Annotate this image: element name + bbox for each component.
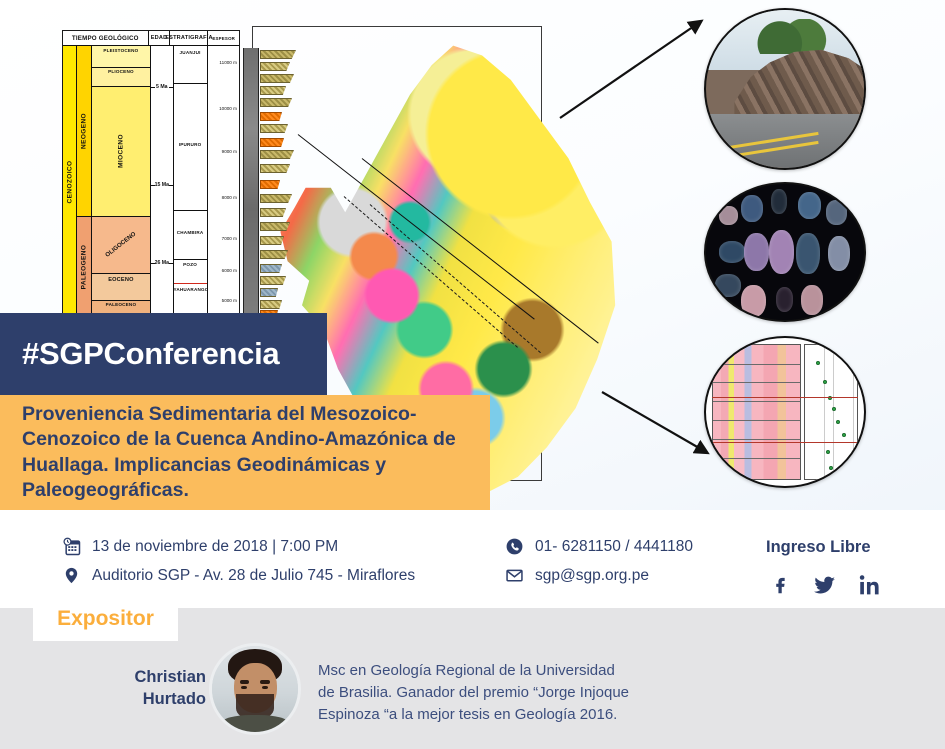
speaker-bio-line1: Msc en Geología Regional de la Universid… [318,660,668,682]
strat-series-label-oligoceno: OLIGOCENO [105,231,138,258]
strat-fm-label-ipururo: IPURURO [174,142,207,147]
strat-header-tiempo: TIEMPO GEOLÓGICO [63,31,149,45]
strat-fm-juanjui: JUANJUI [174,46,207,84]
strat-seg-mioceno: MIOCENO [92,87,150,217]
strat-thk-6000: 6000 m [222,268,237,273]
expositor-label-box: Expositor [33,597,178,641]
strat-age-15ma: 15 Ma [151,182,172,188]
strat-thk-7000: 7000 m [222,236,237,241]
speaker-avatar [212,646,298,732]
strat-seg-paleogeno: PALEOGENO [77,217,90,317]
strat-seg-oligoceno: OLIGOCENO [92,217,150,274]
contact-email-row[interactable]: sgp@sgp.org.pe [505,561,693,590]
conference-title: Proveniencia Sedimentaria del Mesozoico-… [0,402,490,503]
strat-thk-5000: 5000 m [222,298,237,303]
strat-fm-label-chambira: CHAMBIRA [174,230,207,235]
contact-strip: 13 de noviembre de 2018 | 7:00 PM Audito… [0,510,945,608]
strat-seg-plioceno: PLIOCENO [92,68,150,87]
strat-col-thickness: 11000 m 10000 m 9000 m 8000 m 7000 m 600… [208,46,239,317]
strat-era-label: CENOZOICO [66,160,73,203]
speaker-footer: Expositor Christian Hurtado Msc en Geolo… [0,608,945,749]
contact-email-text: sgp@sgp.org.pe [535,567,649,585]
strat-age-26ma: 26 Ma [151,260,172,266]
strat-fm-chambira: CHAMBIRA [174,211,207,260]
hashtag-text: #SGPConferencia [0,336,279,372]
speaker-bio-line3: Espinoza “a la mejor tesis en Geología 2… [318,704,668,726]
speaker-bio: Msc en Geología Regional de la Universid… [318,660,668,726]
calendar-clock-icon [62,537,92,557]
contact-column-middle: 01- 6281150 / 4441180 sgp@sgp.org.pe [505,532,693,590]
strat-body: CENOZOICO NEOGENO PALEOGENO PLEISTOCENO [63,46,239,317]
strat-series-label-plioceno: PLIOCENO [92,69,150,74]
strat-thk-10000: 10000 m [219,106,237,111]
location-pin-icon [62,566,92,585]
strat-header-estratigrafia: ESTRATIGRAFÍA [170,31,208,45]
strat-col-system: NEOGENO PALEOGENO [77,46,91,317]
strat-col-age: 5 Ma 15 Ma 26 Ma [151,46,173,317]
contact-date-text: 13 de noviembre de 2018 | 7:00 PM [92,538,338,556]
admission-label: Ingreso Libre [766,538,871,557]
strat-thk-9000: 9000 m [222,149,237,154]
strat-seg-pleistoceno: PLEISTOCENO [92,46,150,68]
strat-system-label-neogeno: NEOGENO [81,113,88,149]
lithologic-log [243,48,259,316]
strat-fm-pozo: POZO [174,260,207,284]
contact-date-row: 13 de noviembre de 2018 | 7:00 PM [62,532,415,561]
strat-series-label-paleoceno: PALEOCENO [92,302,150,307]
strat-col-series: PLEISTOCENO PLIOCENO MIOCENO OLIGOCENO E… [92,46,151,317]
contact-phone-row[interactable]: 01- 6281150 / 4441180 [505,532,693,561]
strat-fm-label-juanjui: JUANJUI [174,50,207,55]
speaker-name: Christian Hurtado [78,666,206,711]
strat-header-row: TIEMPO GEOLÓGICO EDAD ESTRATIGRAFÍA ESPE… [63,31,239,46]
strat-thk-11000: 11000 m [219,60,237,65]
strat-fm-ipururo: IPURURO [174,84,207,211]
twitter-icon[interactable] [812,572,837,598]
phone-icon [505,537,535,556]
strat-series-label-mioceno: MIOCENO [117,134,124,168]
stratigraphic-column: TIEMPO GEOLÓGICO EDAD ESTRATIGRAFÍA ESPE… [62,30,240,318]
strat-fm-label-pozo: POZO [174,262,207,267]
speaker-bio-line2: de Brasilia. Ganador del premio “Jorge I… [318,682,668,704]
speaker-name-line1: Christian [78,666,206,688]
contact-venue-row: Auditorio SGP - Av. 28 de Julio 745 - Mi… [62,561,415,590]
strat-thk-8000: 8000 m [222,195,237,200]
title-banner: Proveniencia Sedimentaria del Mesozoico-… [0,395,490,510]
hashtag-banner: #SGPConferencia [0,313,327,395]
contact-venue-text: Auditorio SGP - Av. 28 de Julio 745 - Mi… [92,567,415,585]
zircon-grains-inset [704,182,866,322]
strat-age-5ma: 5 Ma [151,84,172,90]
strat-series-label-pleistoceno: PLEISTOCENO [92,48,150,53]
expositor-label: Expositor [57,607,154,631]
strat-series-label-eoceno: EOCENO [92,277,150,283]
contact-phone-text: 01- 6281150 / 4441180 [535,538,693,556]
speaker-name-line2: Hurtado [78,688,206,710]
outcrop-photo-inset [704,8,866,170]
strat-fm-label-yahuarango: YAHUARANGO [174,287,207,292]
envelope-icon [505,566,535,585]
facebook-icon[interactable] [770,572,792,598]
social-links [770,572,883,598]
strat-col-formations: JUANJUI IPURURO CHAMBIRA POZO YAHUARANGO [174,46,208,317]
strat-seg-eoceno: EOCENO [92,274,150,301]
strat-col-era: CENOZOICO [63,46,77,317]
strat-seg-neogeno: NEOGENO [77,46,90,217]
strat-header-espesor: ESPESOR [208,31,239,45]
contact-column-left: 13 de noviembre de 2018 | 7:00 PM Audito… [62,532,415,590]
strat-system-label-paleogeno: PALEOGENO [81,245,88,290]
age-spectra-inset [704,336,866,488]
linkedin-icon[interactable] [857,572,883,598]
conference-poster: TIEMPO GEOLÓGICO EDAD ESTRATIGRAFÍA ESPE… [0,0,945,749]
